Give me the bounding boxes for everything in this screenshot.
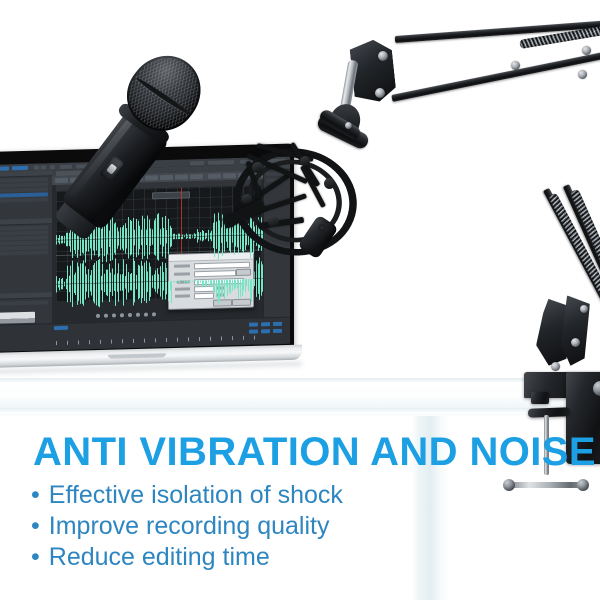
clamp-bar-end-knob[interactable] bbox=[577, 479, 589, 491]
feature-text: Improve recording quality bbox=[49, 511, 330, 542]
clamp-jaw-pad bbox=[531, 392, 549, 404]
bottom-button[interactable] bbox=[54, 326, 68, 330]
hinge-bolt bbox=[551, 362, 560, 371]
bullet-marker-icon: • bbox=[31, 511, 40, 542]
shock-mount-joint bbox=[324, 178, 335, 189]
toolbar-button[interactable] bbox=[41, 165, 46, 169]
mixer-button[interactable] bbox=[273, 322, 282, 326]
hinge-bolt bbox=[582, 46, 591, 55]
shock-mount-joint bbox=[242, 194, 252, 204]
spring-anchor-bolt bbox=[511, 61, 520, 70]
toolbar-button[interactable] bbox=[12, 165, 28, 169]
mixer-button[interactable] bbox=[261, 329, 270, 333]
clamp-bar-end-knob[interactable] bbox=[503, 479, 515, 491]
mixer-button[interactable] bbox=[261, 322, 270, 326]
app-logo bbox=[0, 312, 35, 324]
feature-list: • Effective isolation of shock • Improve… bbox=[31, 480, 451, 573]
product-banner: ANTI VIBRATION AND NOISE • Effective iso… bbox=[0, 0, 600, 600]
mixer-button[interactable] bbox=[273, 329, 282, 333]
hinge-bolt bbox=[580, 305, 588, 313]
list-item[interactable] bbox=[0, 197, 48, 203]
bullet-marker-icon: • bbox=[31, 480, 40, 511]
toolbar-button[interactable] bbox=[0, 166, 9, 170]
hinge-bolt bbox=[571, 338, 580, 347]
list-item[interactable] bbox=[0, 250, 48, 256]
clamp-lower-jaw bbox=[528, 407, 570, 417]
list-item[interactable] bbox=[0, 300, 48, 306]
list-item: • Reduce editing time bbox=[31, 542, 451, 573]
feature-text: Reduce editing time bbox=[49, 542, 270, 573]
feature-text: Effective isolation of shock bbox=[49, 480, 343, 511]
mixer-button[interactable] bbox=[249, 329, 258, 333]
arm-bar-lower bbox=[391, 51, 600, 102]
shock-mount-joint bbox=[252, 162, 263, 173]
panel-header bbox=[0, 292, 52, 300]
connector-bolt bbox=[345, 122, 352, 129]
desk-edge bbox=[0, 408, 600, 414]
hinge-bolt bbox=[378, 51, 388, 61]
hinge-bolt bbox=[578, 70, 587, 79]
list-item: • Improve recording quality bbox=[31, 511, 451, 542]
transport-controls[interactable] bbox=[96, 310, 196, 319]
page-title: ANTI VIBRATION AND NOISE bbox=[33, 431, 596, 473]
timeline-ticks bbox=[56, 335, 262, 345]
shock-mount-joint bbox=[268, 216, 279, 227]
list-item: • Effective isolation of shock bbox=[31, 480, 451, 511]
bullet-marker-icon: • bbox=[31, 542, 40, 573]
hinge-bolt bbox=[375, 88, 385, 98]
clamp-tightening-bar[interactable] bbox=[508, 482, 584, 488]
shock-mount-joint bbox=[300, 156, 310, 166]
mixer-button[interactable] bbox=[249, 322, 258, 326]
toolbar-button[interactable] bbox=[34, 165, 39, 169]
shock-mount bbox=[228, 132, 368, 262]
toolbar-button[interactable] bbox=[50, 165, 55, 169]
